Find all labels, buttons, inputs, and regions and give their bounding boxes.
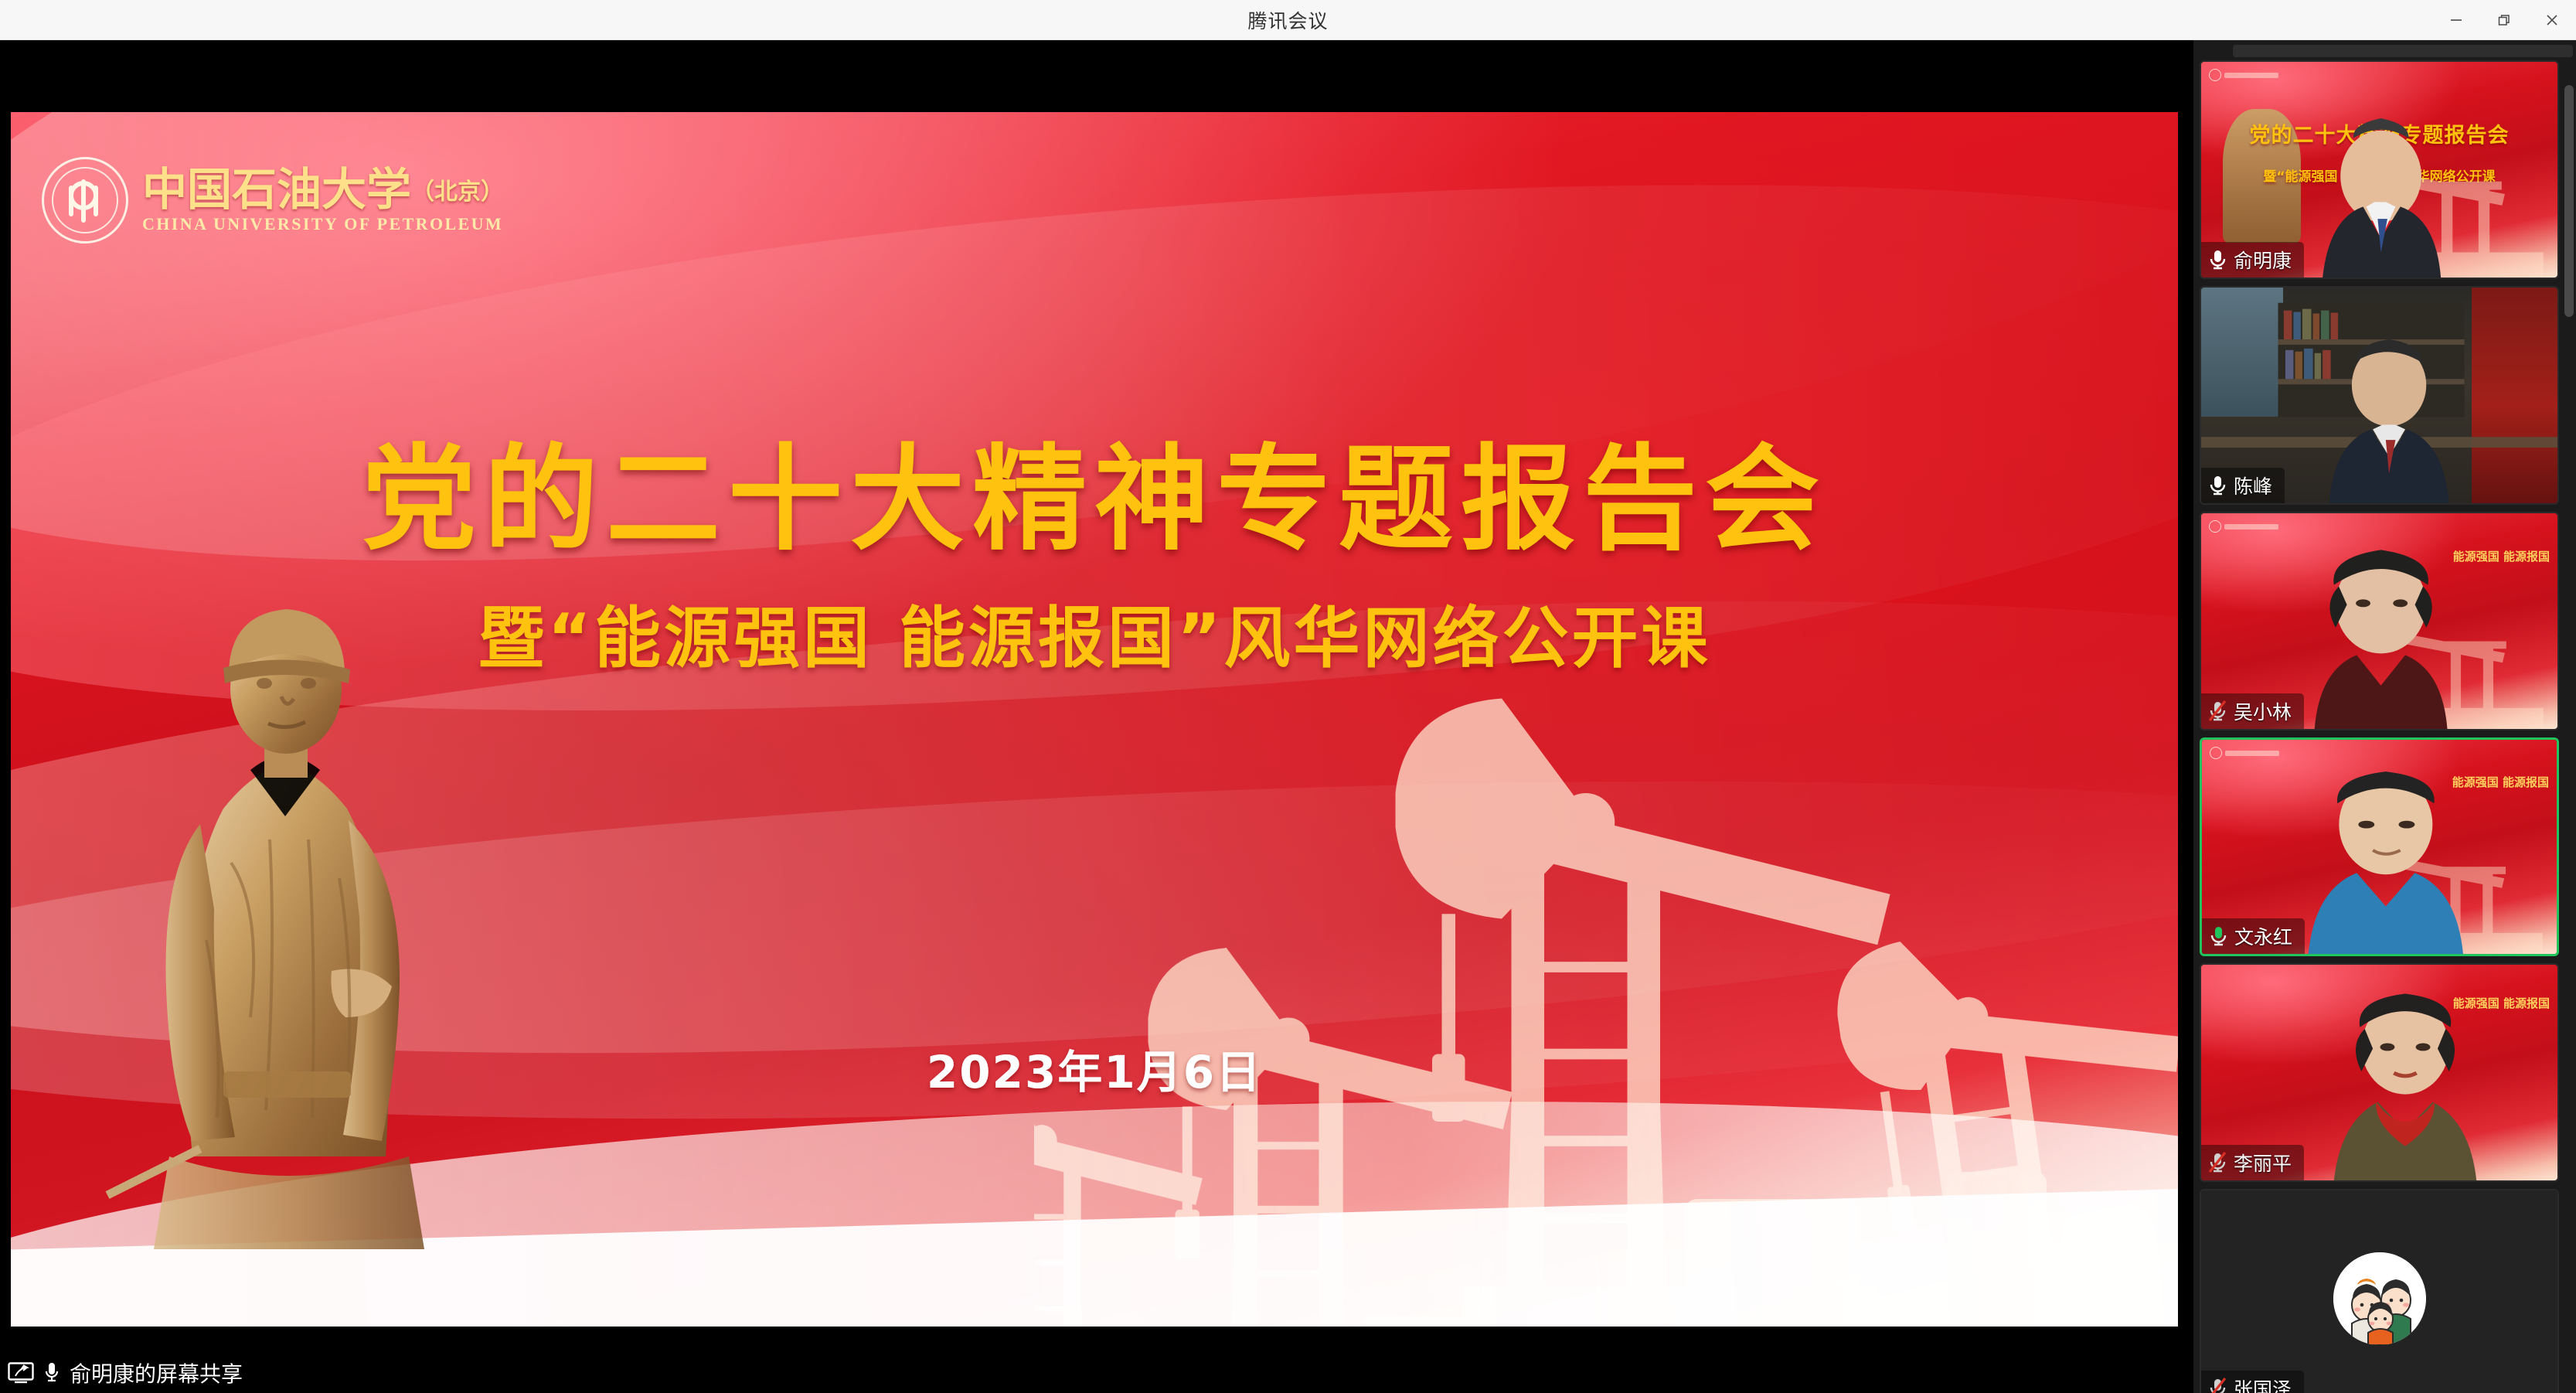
slide-subtitle: 暨“能源强国 能源报国”风华网络公开课 [11, 584, 2178, 680]
participant-tile-1[interactable]: 党的二十大精神专题报告会 暨“能源强国 能源报国”风华网络公开课 [2200, 60, 2559, 279]
microphone-muted-icon [2207, 1151, 2227, 1174]
university-seal-icon [42, 157, 128, 244]
participant-name-3: 吴小林 [2234, 697, 2292, 725]
share-status-bar: 俞明康的屏幕共享 [0, 1353, 2193, 1393]
participant-tile-5[interactable]: 能源强国 能源报国 [2200, 963, 2559, 1182]
microphone-muted-icon [2207, 1377, 2227, 1393]
tencent-meeting-window: 腾讯会议 [0, 0, 2576, 1393]
university-logo: 中国石油大学（北京） CHINA UNIVERSITY OF PETROLEUM [42, 157, 504, 244]
scrollbar-thumb[interactable] [2564, 85, 2574, 317]
participant-tile-3[interactable]: 能源强国 能源报国 [2200, 512, 2559, 731]
restore-button[interactable] [2480, 0, 2528, 40]
university-name-cn: 中国石油大学（北京） [142, 166, 504, 213]
participant-name-1: 俞明康 [2234, 246, 2292, 274]
slide-title: 党的二十大精神专题报告会 [11, 406, 2178, 572]
participant-nametag-1: 俞明康 [2201, 242, 2304, 278]
microphone-muted-icon [2207, 700, 2227, 723]
screen-share-icon [8, 1362, 34, 1384]
participant-nametag-4: 文永红 [2202, 918, 2305, 954]
share-status-text: 俞明康的屏幕共享 [70, 1357, 243, 1388]
participant-nametag-6: 张国泽 [2201, 1371, 2304, 1393]
participant-nametag-3: 吴小林 [2201, 693, 2304, 729]
family-cartoon-avatar [2333, 1252, 2426, 1345]
presentation-slide: 中国石油大学（北京） CHINA UNIVERSITY OF PETROLEUM… [11, 112, 2178, 1327]
shared-screen-frame: 中国石油大学（北京） CHINA UNIVERSITY OF PETROLEUM… [0, 40, 2193, 1353]
microphone-icon [2207, 248, 2227, 271]
participant-nametag-2: 陈峰 [2201, 468, 2285, 503]
microphone-icon [2207, 474, 2227, 497]
participant-name-6: 张国泽 [2234, 1374, 2292, 1393]
participant-tile-4[interactable]: 能源强国 能源报国 [2200, 737, 2559, 956]
app-title: 腾讯会议 [1247, 6, 1328, 34]
slide-date: 2023年1月6日 [11, 1036, 2178, 1101]
microphone-icon [2208, 925, 2228, 948]
participant-name-4: 文永红 [2234, 922, 2292, 950]
close-button[interactable] [2528, 0, 2576, 40]
panel-scroll-up-area[interactable] [2233, 45, 2573, 57]
window-controls [2432, 0, 2576, 40]
microphone-icon [43, 1361, 60, 1384]
university-name-en: CHINA UNIVERSITY OF PETROLEUM [142, 214, 504, 234]
participant-name-5: 李丽平 [2234, 1149, 2292, 1177]
university-logo-text: 中国石油大学（北京） CHINA UNIVERSITY OF PETROLEUM [142, 166, 504, 235]
shared-screen-stage[interactable]: 中国石油大学（北京） CHINA UNIVERSITY OF PETROLEUM… [0, 40, 2193, 1393]
participant-panel-scrollbar[interactable] [2564, 85, 2574, 1384]
minimize-button[interactable] [2432, 0, 2480, 40]
participant-nametag-5: 李丽平 [2201, 1145, 2304, 1180]
title-bar: 腾讯会议 [0, 0, 2576, 40]
participant-tile-2[interactable]: 陈峰 [2200, 286, 2559, 505]
participant-tile-6[interactable]: 张国泽 [2200, 1189, 2559, 1393]
participant-panel[interactable]: 党的二十大精神专题报告会 暨“能源强国 能源报国”风华网络公开课 [2193, 40, 2576, 1393]
participant-video-6 [2201, 1190, 2557, 1393]
oil-pumpjack-illustration [1034, 631, 2178, 1327]
participant-name-2: 陈峰 [2234, 472, 2272, 499]
